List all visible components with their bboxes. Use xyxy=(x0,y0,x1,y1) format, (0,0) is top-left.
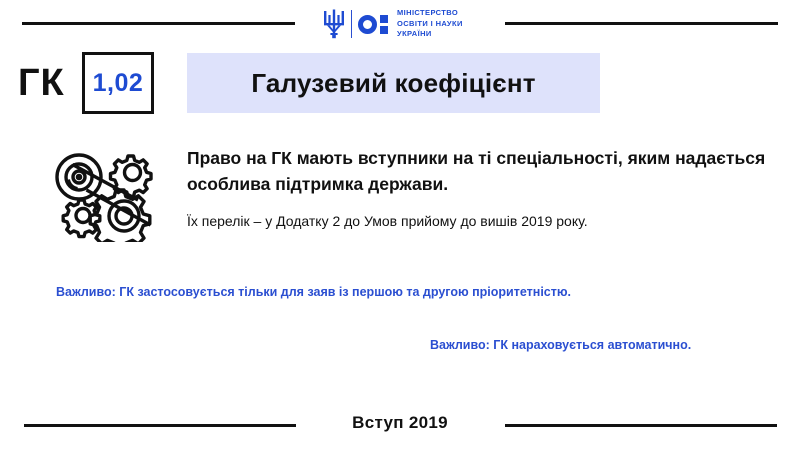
logo-divider xyxy=(351,10,352,38)
title-row: ГК 1,02 Галузевий коефіцієнт xyxy=(0,52,800,114)
logo-squares-icon xyxy=(380,15,388,34)
mon-ring-squares-icon xyxy=(358,15,388,34)
sub-text: Їх перелік – у Додатку 2 до Умов прийому… xyxy=(187,211,787,231)
page-title: Галузевий коефіцієнт xyxy=(251,68,535,99)
ministry-line-2: ОСВІТИ І НАУКИ xyxy=(397,19,463,30)
coefficient-value: 1,02 xyxy=(93,69,144,98)
coefficient-value-box: 1,02 xyxy=(82,52,154,114)
body-text-block: Право на ГК мають вступники на ті спеціа… xyxy=(187,145,787,231)
ministry-logo: МІНІСТЕРСТВО ОСВІТИ І НАУКИ УКРАЇНИ xyxy=(323,4,483,44)
gears-belt-icon xyxy=(46,142,166,242)
header-rule-left xyxy=(22,22,295,25)
important-note-priority: Важливо: ГК застосовується тільки для за… xyxy=(56,285,571,299)
header-rule-right xyxy=(505,22,778,25)
slide-footer: Вступ 2019 xyxy=(0,405,800,445)
slide-header: МІНІСТЕРСТВО ОСВІТИ І НАУКИ УКРАЇНИ xyxy=(0,0,800,48)
logo-square-bottom xyxy=(380,26,388,34)
logo-ring-icon xyxy=(358,15,377,34)
ministry-name: МІНІСТЕРСТВО ОСВІТИ І НАУКИ УКРАЇНИ xyxy=(397,8,463,40)
ukraine-trident-icon xyxy=(323,9,345,39)
ministry-line-1: МІНІСТЕРСТВО xyxy=(397,8,463,19)
ministry-line-3: УКРАЇНИ xyxy=(397,29,463,40)
footer-label: Вступ 2019 xyxy=(0,413,800,433)
page-title-band: Галузевий коефіцієнт xyxy=(187,53,600,113)
lead-text: Право на ГК мають вступники на ті спеціа… xyxy=(187,145,787,197)
gk-abbreviation: ГК xyxy=(18,54,65,112)
logo-square-top xyxy=(380,15,388,23)
important-note-automatic: Важливо: ГК нараховується автоматично. xyxy=(430,338,691,352)
